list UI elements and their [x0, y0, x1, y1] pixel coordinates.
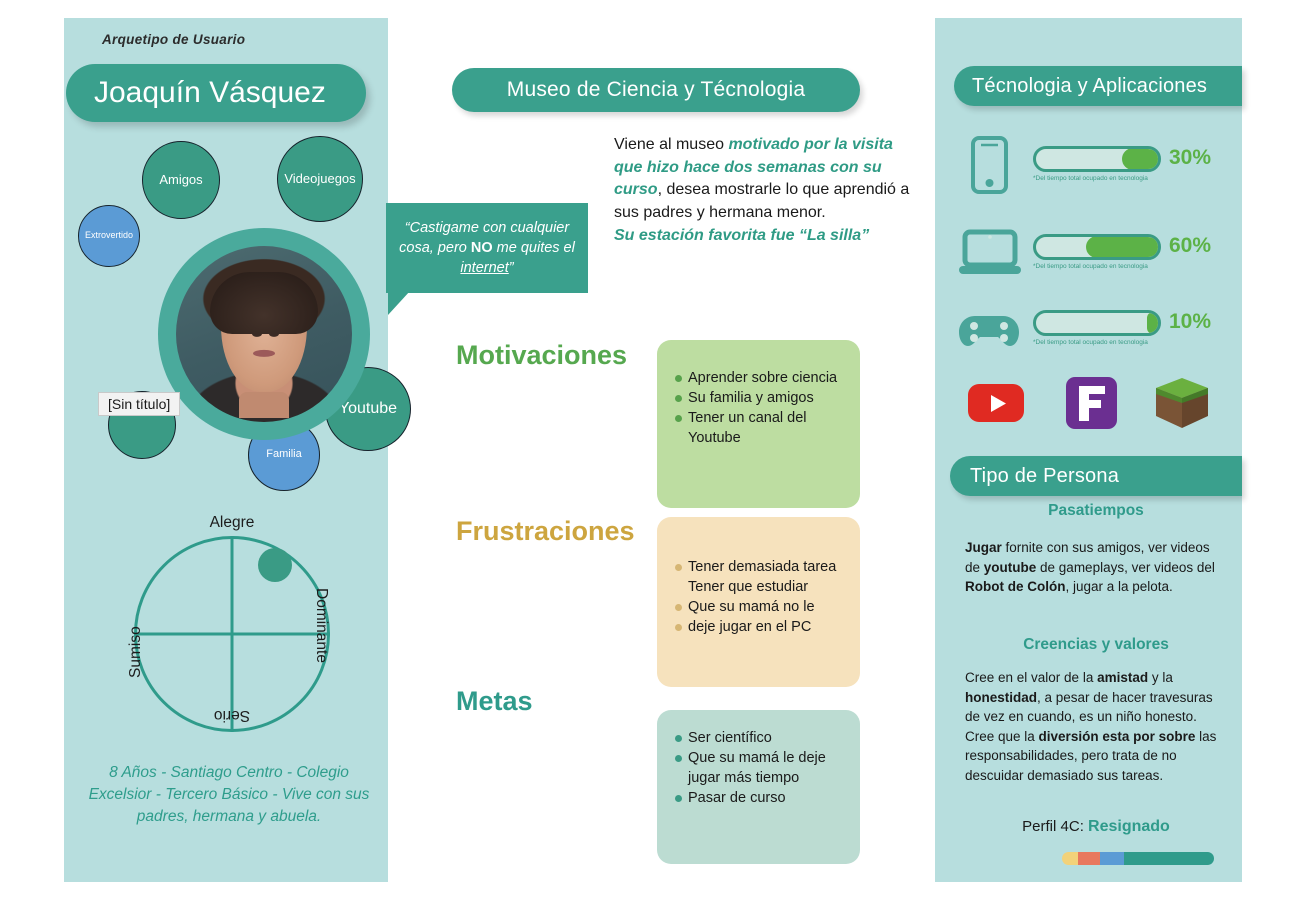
section-title-motivaciones: Motivaciones — [456, 340, 627, 371]
progress-track — [1033, 234, 1161, 260]
app-icon-row — [960, 374, 1240, 436]
motivaciones-list: Aprender sobre ciencia Su familia y amig… — [675, 368, 848, 448]
frustraciones-list: Tener demasiada tarea Tener que estudiar… — [675, 557, 848, 637]
tech-row-laptop: *Del tiempo total ocupado en tecnologia … — [955, 224, 1245, 286]
person-type-header: Tipo de Persona — [950, 456, 1242, 496]
segment-3 — [1100, 852, 1124, 865]
bubble-extrovertido[interactable]: Extrovertido — [78, 205, 140, 267]
intro-text-1: Viene al museo — [614, 136, 728, 153]
progress-note: *Del tiempo total ocupado en tecnologia — [1033, 339, 1161, 346]
avatar — [158, 228, 370, 440]
hair-shape — [210, 272, 318, 334]
profile-line: Perfil 4C: Resignado — [950, 818, 1242, 836]
progress-note: *Del tiempo total ocupado en tecnologia — [1033, 175, 1161, 182]
section-title-metas: Metas — [456, 686, 533, 717]
list-item: Que su mamá no le — [675, 597, 848, 617]
pasatiempos-bold-2: youtube — [984, 560, 1037, 575]
youtube-app-icon[interactable] — [966, 374, 1026, 432]
list-item: Tener demasiada tarea — [675, 557, 848, 577]
pasatiempos-bold-1: Jugar — [965, 540, 1002, 555]
segment-1 — [1062, 852, 1078, 865]
progress-track — [1033, 310, 1161, 336]
section-title-frustraciones: Frustraciones — [456, 516, 635, 547]
personality-horizontal-axis — [134, 633, 330, 636]
museum-header: Museo de Ciencia y Técnologia — [452, 68, 860, 112]
creencias-text-1: Cree en el valor de la — [965, 670, 1097, 685]
bubble-label: Videojuegos — [284, 172, 355, 186]
bubble-label: Extrovertido — [85, 231, 133, 240]
kicker-label: Arquetipo de Usuario — [102, 32, 245, 47]
creencias-text: Cree en el valor de la amistad y la hone… — [965, 668, 1227, 785]
gamepad-progress: *Del tiempo total ocupado en tecnologia — [1033, 310, 1161, 346]
smartphone-percent: 30% — [1169, 146, 1211, 170]
metas-list: Ser científico Que su mamá le deje jugar… — [675, 728, 848, 808]
card-frustraciones: Tener demasiada tarea Tener que estudiar… — [657, 517, 860, 687]
pasatiempos-text-2: de gameplays, ver videos del — [1036, 560, 1215, 575]
list-item: Tener un canal del Youtube — [675, 408, 848, 448]
pasatiempos-text-3: , jugar a la pelota. — [1065, 579, 1172, 594]
fortnite-app-icon[interactable] — [1061, 374, 1121, 432]
segment-4 — [1124, 852, 1214, 865]
axis-label-top: Alegre — [134, 514, 330, 532]
bubble-label: Youtube — [339, 401, 397, 418]
profile-label: Perfil 4C: — [1022, 818, 1084, 835]
pasatiempos-text: Jugar fornite con sus amigos, ver videos… — [965, 538, 1227, 597]
personality-marker — [258, 548, 292, 582]
axis-label-bottom: Serio — [134, 706, 330, 724]
axis-label-right: Dominante — [312, 588, 330, 663]
avatar-photo — [176, 246, 352, 422]
laptop-icon — [955, 224, 1023, 282]
persona-name: Joaquín Vásquez — [66, 64, 366, 122]
minecraft-app-icon[interactable] — [1152, 374, 1212, 432]
mouth — [253, 350, 275, 357]
list-item: Pasar de curso — [675, 788, 848, 808]
list-item: Su familia y amigos — [675, 388, 848, 408]
bubble-amigos[interactable]: Amigos — [142, 141, 220, 219]
profile-value: Resignado — [1088, 818, 1170, 835]
progress-note: *Del tiempo total ocupado en tecnologia — [1033, 263, 1161, 270]
segment-2 — [1078, 852, 1100, 865]
smartphone-progress: *Del tiempo total ocupado en tecnologia — [1033, 146, 1161, 182]
creencias-bold-3: diversión esta por sobre — [1039, 729, 1196, 744]
card-motivaciones: Aprender sobre ciencia Su familia y amig… — [657, 340, 860, 508]
infographic-page: Arquetipo de Usuario Joaquín Vásquez Ami… — [0, 0, 1309, 900]
technology-header: Técnologia y Aplicaciones — [954, 66, 1242, 106]
smartphone-icon — [955, 136, 1023, 194]
creencias-text-2: y la — [1148, 670, 1173, 685]
progress-fill — [1147, 312, 1159, 334]
laptop-progress: *Del tiempo total ocupado en tecnologia — [1033, 234, 1161, 270]
pasatiempos-bold-3: Robot de Colón — [965, 579, 1065, 594]
axis-label-left: Sumiso — [127, 626, 145, 678]
quote-tail — [388, 291, 410, 315]
progress-fill — [1122, 148, 1159, 170]
persona-quote: “Castigame con cualquier cosa, pero NO m… — [386, 203, 588, 293]
card-metas: Ser científico Que su mamá le deje jugar… — [657, 710, 860, 864]
neck-shape — [239, 392, 289, 418]
progress-fill — [1086, 236, 1159, 258]
progress-track — [1033, 146, 1161, 172]
intro-highlight-2: Su estación favorita fue “La silla” — [614, 225, 914, 248]
pasatiempos-title: Pasatiempos — [950, 502, 1242, 520]
list-item: Que su mamá le deje jugar más tiempo — [675, 748, 848, 788]
quote-bold: NO — [471, 240, 493, 256]
intro-paragraph: Viene al museo motivado por la visita qu… — [614, 134, 914, 248]
photo-caption: [Sin título] — [98, 392, 180, 416]
bubble-videojuegos[interactable]: Videojuegos — [277, 136, 363, 222]
list-item: deje jugar en el PC — [675, 617, 848, 637]
laptop-percent: 60% — [1169, 234, 1211, 258]
list-item: Tener que estudiar — [675, 577, 848, 597]
gamepad-icon — [955, 300, 1023, 358]
tech-row-smartphone: *Del tiempo total ocupado en tecnologia … — [955, 136, 1245, 198]
tech-row-gamepad: *Del tiempo total ocupado en tecnologia … — [955, 300, 1245, 362]
bubble-label: Amigos — [159, 173, 202, 187]
bubble-label: Familia — [266, 449, 301, 461]
quote-part-2: me quites el — [493, 240, 575, 256]
personality-chart — [134, 536, 330, 732]
persona-bio: 8 Años - Santiago Centro - Colegio Excel… — [84, 762, 374, 828]
quote-part-3: ” — [509, 260, 514, 276]
quote-underline: internet — [460, 260, 508, 276]
gamepad-percent: 10% — [1169, 310, 1211, 334]
creencias-bold-1: amistad — [1097, 670, 1148, 685]
profile-segment-bar — [1062, 852, 1214, 865]
list-item: Aprender sobre ciencia — [675, 368, 848, 388]
list-item: Ser científico — [675, 728, 848, 748]
creencias-title: Creencias y valores — [950, 636, 1242, 654]
creencias-bold-2: honestidad — [965, 690, 1037, 705]
intro-text-2: , desea mostrarle lo que aprendió a sus … — [614, 181, 909, 221]
